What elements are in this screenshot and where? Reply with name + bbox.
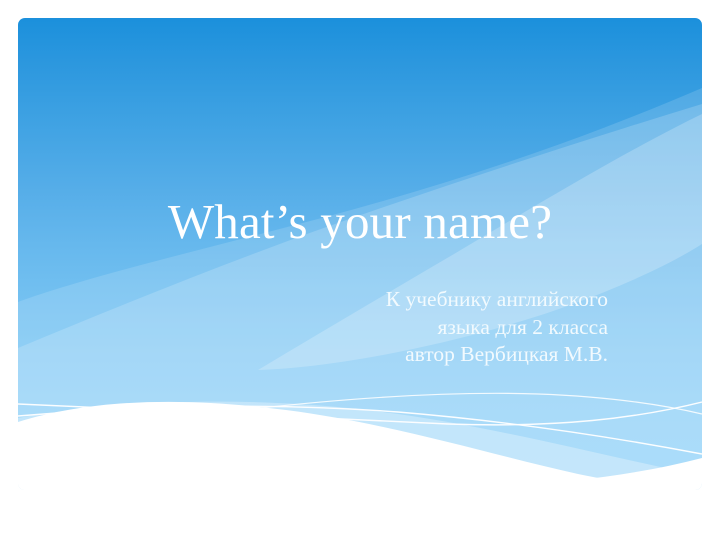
subtitle-line-2: языка для 2 класса <box>168 314 608 342</box>
slide-title: What’s your name? <box>60 193 660 251</box>
slide-subtitle: К учебнику английского языка для 2 класс… <box>168 286 608 369</box>
subtitle-line-1: К учебнику английского <box>168 286 608 314</box>
slide-text-area: What’s your name? К учебнику английского… <box>18 18 702 490</box>
slide-root: What’s your name? К учебнику английского… <box>0 0 720 540</box>
slide-canvas: What’s your name? К учебнику английского… <box>18 18 702 490</box>
subtitle-line-3: автор Вербицкая М.В. <box>168 341 608 369</box>
